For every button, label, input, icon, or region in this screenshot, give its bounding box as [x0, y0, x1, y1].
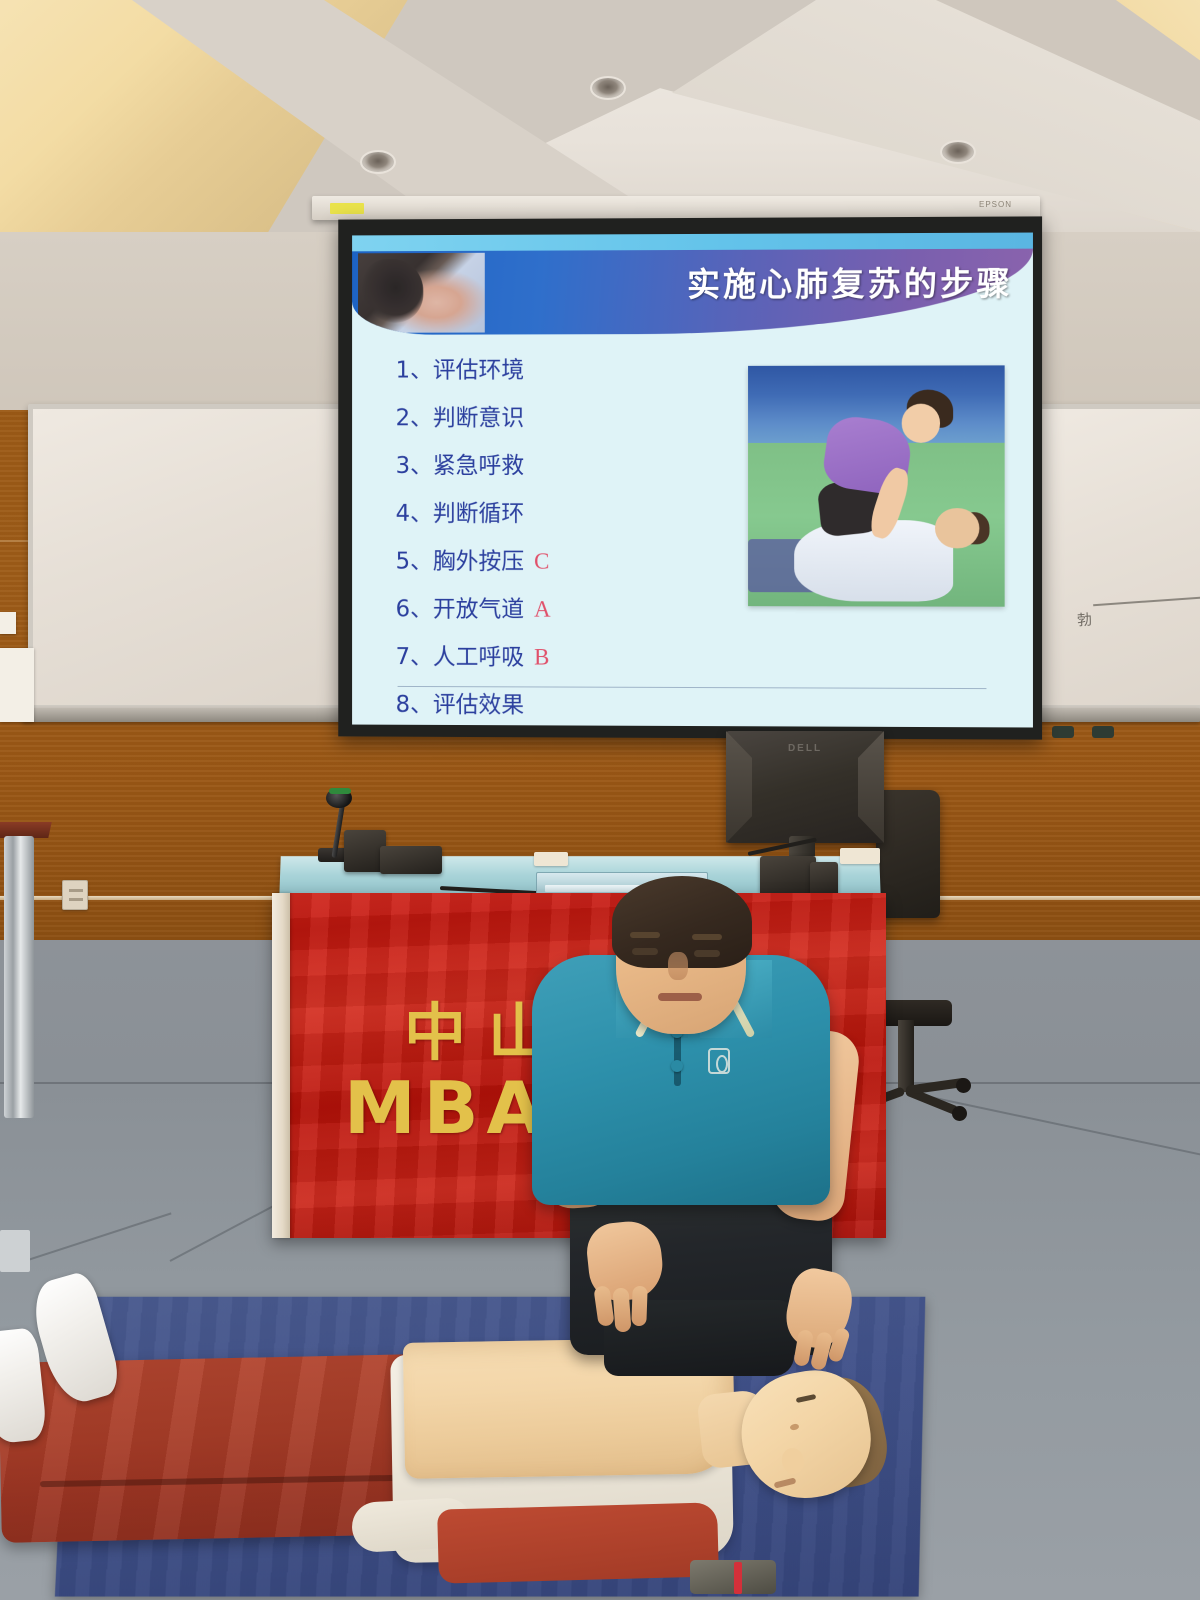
av-control-unit[interactable] — [760, 856, 816, 896]
classroom-scene: 勃 EPSON 实施心肺复苏的步骤 1、评估环境 2、判断意识 — [0, 0, 1200, 1600]
slide-body: 1、评估环境 2、判断意识 3、紧急呼救 4、判断循环 5、胸外按压C 6、开放… — [352, 337, 1033, 727]
office-chair-caster — [952, 1106, 967, 1121]
av-control-unit[interactable] — [810, 862, 838, 896]
whiteboard-marker[interactable] — [1092, 726, 1114, 738]
slide-bullet: 6、开放气道A — [396, 589, 551, 623]
instructor-shirt-logo — [708, 1048, 730, 1074]
projection-screen: 实施心肺复苏的步骤 1、评估环境 2、判断意识 3、紧急呼救 4、判断循环 5、… — [338, 216, 1042, 739]
presentation-slide: 实施心肺复苏的步骤 1、评估环境 2、判断意识 3、紧急呼救 4、判断循环 5、… — [352, 233, 1033, 728]
slide-title: 实施心肺复苏的步骤 — [687, 257, 1013, 306]
bullet-text: 评估效果 — [433, 692, 524, 718]
bullet-number: 2、 — [396, 405, 433, 431]
instructor-eye — [632, 948, 658, 955]
microphone-indicator-ring — [329, 788, 351, 794]
bullet-text: 评估环境 — [433, 357, 524, 383]
bullet-text: 判断意识 — [433, 405, 524, 431]
right-whiteboard-tray — [1020, 708, 1200, 722]
monitor-bevel-right — [858, 731, 884, 843]
computer-monitor: DELL — [726, 731, 884, 843]
bullet-number: 1、 — [396, 358, 433, 384]
lectern-leg — [4, 836, 34, 1118]
recessed-downlight — [360, 150, 396, 174]
bullet-number: 4、 — [396, 501, 433, 527]
instructor-finger — [631, 1286, 647, 1326]
desk-paper — [534, 852, 568, 866]
monitor-bevel-left — [726, 731, 752, 843]
housing-label-sticker — [330, 203, 364, 214]
av-control-unit[interactable] — [380, 846, 442, 874]
office-chair-caster — [956, 1078, 971, 1093]
bullet-text: 人工呼吸 — [433, 644, 524, 670]
slide-bullet: 2、判断意识 — [396, 398, 525, 432]
manikin-device-band — [734, 1562, 742, 1594]
instructor-eyebrow — [692, 934, 722, 940]
manikin-feedback-device[interactable] — [690, 1560, 776, 1594]
paper-sheet — [0, 612, 16, 634]
bullet-text: 胸外按压 — [433, 549, 524, 575]
bullet-number: 6、 — [396, 596, 433, 622]
bullet-letter: C — [534, 549, 549, 574]
slide-bullet: 8、评估效果 — [396, 685, 525, 719]
bullet-number: 5、 — [396, 549, 433, 575]
bullet-letter: A — [534, 597, 551, 622]
whiteboard-marker[interactable] — [1052, 726, 1074, 738]
bullet-number: 7、 — [396, 644, 433, 670]
paper-sheet — [0, 648, 34, 722]
desk-paper — [840, 848, 880, 864]
left-whiteboard[interactable] — [28, 404, 358, 710]
whiteboard-stroke — [1093, 594, 1200, 606]
banner-text-mba: MBA — [344, 1066, 550, 1150]
housing-brand-mark: EPSON — [979, 200, 1012, 209]
inset-victim-head — [935, 508, 979, 549]
slide-bullet: 5、胸外按压C — [396, 542, 550, 576]
monitor-brand-label: DELL — [788, 743, 822, 754]
slide-bullet: 3、紧急呼救 — [396, 446, 525, 480]
bullet-letter: B — [534, 645, 549, 670]
manikin-red-clothing — [437, 1502, 719, 1583]
wall-power-outlet[interactable] — [62, 880, 88, 910]
slide-inset-photo — [748, 365, 1005, 606]
slide-bullet: 4、判断循环 — [396, 494, 525, 528]
desk-banner-edge — [272, 893, 290, 1238]
whiteboard-writing: 勃 — [1076, 609, 1092, 631]
slide-bullet: 7、人工呼吸B — [396, 637, 550, 671]
bullet-number: 3、 — [396, 453, 433, 479]
office-chair-post — [898, 1020, 914, 1092]
bullet-text: 判断循环 — [433, 501, 524, 527]
instructor-eyebrow — [630, 932, 660, 938]
slide-bullet: 1、评估环境 — [396, 350, 525, 384]
header-thumbnail-photo — [358, 253, 485, 333]
bullet-number: 8、 — [396, 692, 433, 718]
recessed-downlight — [590, 76, 626, 100]
instructor-mouth — [658, 993, 702, 1001]
right-whiteboard[interactable]: 勃 — [1026, 404, 1200, 710]
bullet-text: 紧急呼救 — [433, 453, 524, 479]
left-whiteboard-tray — [22, 708, 366, 722]
instructor-finger — [612, 1287, 631, 1332]
floor-vent — [0, 1230, 30, 1272]
recessed-downlight — [940, 140, 976, 164]
instructor-eye — [694, 950, 720, 957]
bullet-text: 开放气道 — [433, 596, 524, 622]
inset-rescuer-head — [902, 404, 941, 443]
instructor-shirt-button — [671, 1060, 683, 1072]
instructor-nose — [668, 952, 688, 980]
